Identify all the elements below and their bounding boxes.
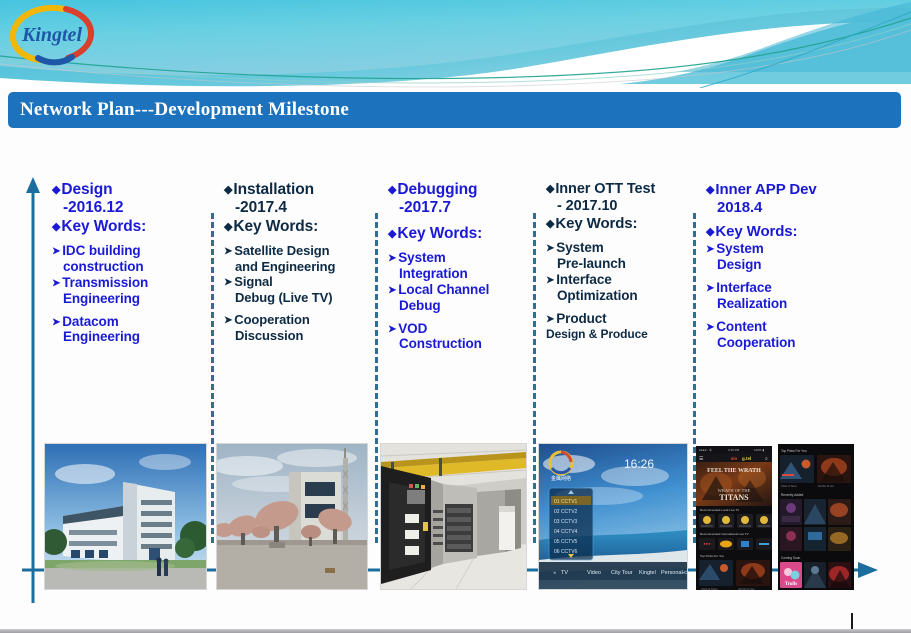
thumbnail-office-building[interactable]	[44, 443, 207, 590]
mobile-app-screens-image: ●●●●○ 令3:45 PM100% ▮ ☰ sin g.tel ⌕	[696, 444, 854, 592]
phase-title: Inner OTT Test	[546, 181, 690, 198]
svg-text:Coming Soon: Coming Soon	[781, 556, 801, 560]
tv-clock-text: 16:26	[624, 457, 654, 471]
keywords-label: Key Words:	[224, 218, 372, 236]
keyword-item-cont: Design	[706, 257, 866, 273]
keyword-item-cont: Construction	[388, 336, 530, 352]
thumbnail-data-center[interactable]	[380, 443, 527, 590]
phase-date: -2017.7	[388, 199, 530, 217]
keywords-label: Key Words:	[546, 215, 690, 233]
keyword-item: Interface	[706, 280, 866, 296]
keyword-item: VOD	[388, 321, 530, 337]
timeline-chart: Design -2016.12 Key Words: IDC building …	[0, 135, 911, 605]
keyword-item-cont: Optimization	[546, 288, 690, 304]
keyword-item: System	[706, 241, 866, 257]
svg-text:06 CCTV6: 06 CCTV6	[554, 549, 578, 555]
keyword-item-cont: construction	[52, 259, 208, 275]
svg-text:⌕: ⌕	[765, 456, 768, 462]
keywords-label: Key Words:	[706, 223, 866, 241]
page-title: Network Plan---Development Milestone	[8, 99, 349, 121]
keyword-item: Signal	[224, 274, 372, 290]
page-marker	[851, 613, 853, 629]
keyword-item-cont: Discussion	[224, 328, 372, 343]
svg-text:Clash of Titans: Clash of Titans	[701, 588, 718, 591]
keyword-item-cont: Cooperation	[706, 335, 866, 351]
keyword-item: IDC building	[52, 243, 208, 259]
keyword-item-cont: Pre-launch	[546, 256, 690, 272]
satellite-dish-image	[217, 444, 367, 589]
svg-text:Not Die To Get: Not Die To Get	[738, 588, 755, 591]
keyword-item-cont: Integration	[388, 266, 530, 282]
svg-text:TITANS: TITANS	[719, 493, 749, 502]
keyword-item-cont: Debug (Live TV)	[224, 290, 372, 305]
keyword-item: Interface	[546, 272, 690, 288]
kingtel-logo-text: Kingtel	[21, 24, 82, 46]
svg-text:sin: sin	[731, 456, 738, 461]
keyword-item: Cooperation	[224, 312, 372, 328]
svg-text:05 CCTV5: 05 CCTV5	[554, 539, 578, 545]
svg-text:●●●: ●●●	[703, 541, 711, 546]
svg-text:Top Picks For You: Top Picks For You	[781, 449, 807, 453]
phase-title: Debugging	[388, 181, 530, 199]
svg-text:3:45 PM: 3:45 PM	[728, 448, 740, 452]
svg-text:●●●●○ 令: ●●●●○ 令	[699, 447, 712, 452]
slide-canvas: Kingtel Network Plan---Development Miles…	[0, 0, 911, 633]
milestone-column-installation: Installation -2017.4 Key Words: Satellit…	[214, 175, 378, 590]
phase-title: Inner APP Dev	[706, 181, 866, 199]
phase-title: Installation	[224, 181, 372, 199]
svg-text:Trolls: Trolls	[785, 582, 797, 587]
keyword-item: Datacom	[52, 314, 208, 330]
milestone-column-ott: Inner OTT Test - 2017.10 Key Words: Syst…	[536, 175, 696, 590]
svg-text:Recently Added: Recently Added	[781, 493, 804, 497]
svg-text:Top Picks For You: Top Picks For You	[700, 554, 724, 558]
keyword-item-cont: Engineering	[52, 329, 208, 345]
thumbnail-iptv-ui[interactable]: 金鹰网络 16:26 01 CCTV1 02 CCTV2 03 CCTV3 04…	[538, 443, 688, 590]
keyword-item-cont: and Engineering	[224, 259, 372, 274]
keyword-item: Transmission	[52, 275, 208, 291]
svg-text:☰: ☰	[699, 456, 704, 462]
kingtel-logo-mark: Kingtel	[6, 2, 102, 68]
svg-text:Recommended International Live: Recommended International Live TV	[700, 532, 749, 536]
thumbnail-satellite-dishes[interactable]	[216, 443, 368, 590]
keyword-item-cont: Engineering	[52, 291, 208, 307]
header-banner	[0, 0, 911, 88]
phase-date: 2018.4	[706, 199, 866, 217]
phase-date: -2016.12	[52, 199, 208, 217]
svg-text:City Tour: City Tour	[611, 570, 633, 576]
keyword-item-cont: Debug	[388, 298, 530, 314]
keyword-item-cont: Design & Produce	[546, 327, 690, 341]
svg-text:Video: Video	[587, 570, 601, 576]
svg-text:金鹰网络: 金鹰网络	[551, 475, 571, 482]
svg-text:Not Die To Get: Not Die To Get	[818, 485, 834, 488]
svg-text:100% ▮: 100% ▮	[754, 448, 765, 452]
data-center-image	[381, 444, 526, 589]
y-axis-arrow	[22, 175, 44, 605]
kingtel-logo: Kingtel	[6, 2, 102, 68]
keywords-label: Key Words:	[388, 225, 530, 243]
svg-text:03 CCTV3: 03 CCTV3	[554, 519, 578, 525]
phase-title: Design	[52, 181, 208, 199]
svg-text:FEEL THE WRATH: FEEL THE WRATH	[707, 468, 761, 474]
slide-title-bar: Network Plan---Development Milestone	[8, 92, 901, 128]
milestone-column-debugging: Debugging -2017.7 Key Words: System Inte…	[378, 175, 536, 590]
keyword-item-cont: Realization	[706, 296, 866, 312]
svg-text:g.tel: g.tel	[742, 456, 751, 461]
keyword-item: System	[546, 240, 690, 256]
keyword-item: System	[388, 250, 530, 266]
svg-text:02 CCTV2: 02 CCTV2	[554, 509, 578, 515]
svg-text:Recommended Local Live TV: Recommended Local Live TV	[700, 508, 739, 512]
keywords-label: Key Words:	[52, 218, 208, 236]
svg-text:01 CCTV1: 01 CCTV1	[554, 499, 578, 505]
phase-date: - 2017.10	[546, 198, 690, 215]
keyword-item: Satellite Design	[224, 243, 372, 259]
keyword-item: Content	[706, 319, 866, 335]
slide-bottom-border	[0, 629, 911, 633]
svg-text:TV: TV	[561, 570, 568, 576]
keyword-item: Local Channel	[388, 282, 530, 298]
office-building-image	[45, 444, 206, 589]
keyword-item: Product	[546, 311, 690, 327]
thumbnail-mobile-app[interactable]: ●●●●○ 令3:45 PM100% ▮ ☰ sin g.tel ⌕	[696, 444, 854, 592]
header-wave-graphic	[0, 0, 911, 88]
svg-text:Kingtel: Kingtel	[639, 570, 656, 576]
phase-date: -2017.4	[224, 199, 372, 217]
iptv-interface-image: 金鹰网络 16:26 01 CCTV1 02 CCTV2 03 CCTV3 04…	[539, 444, 687, 589]
milestone-columns: Design -2016.12 Key Words: IDC building …	[42, 175, 872, 590]
milestone-column-app: Inner APP Dev 2018.4 Key Words: System D…	[696, 175, 872, 590]
svg-text:04 CCTV4: 04 CCTV4	[554, 529, 578, 535]
svg-text:Clash of Titans: Clash of Titans	[781, 485, 798, 488]
milestone-column-design: Design -2016.12 Key Words: IDC building …	[42, 175, 214, 590]
